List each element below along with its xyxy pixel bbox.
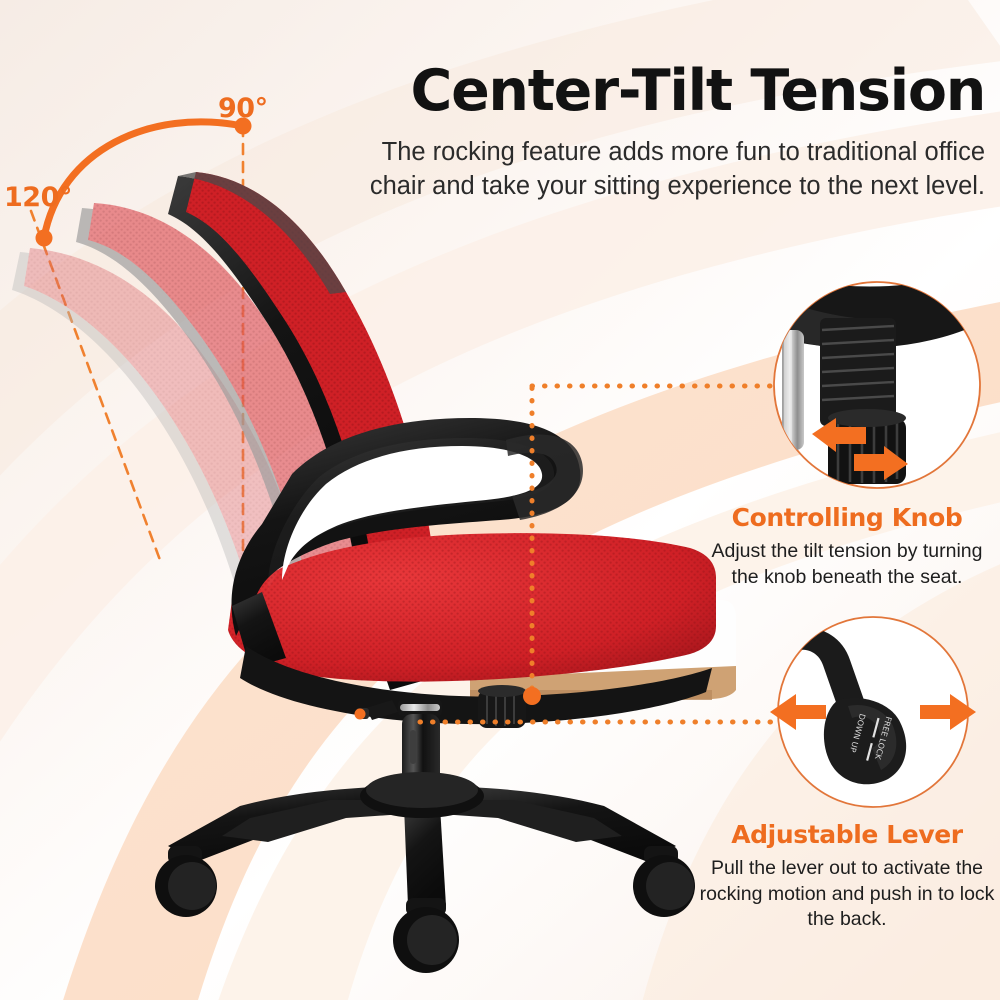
callout-title-lever: Adjustable Lever: [697, 820, 997, 849]
angle-120-ray: [31, 211, 160, 560]
callout-body-lever: Pull the lever out to activate the rocki…: [697, 856, 997, 933]
svg-text:DOWN UP: DOWN UP: [848, 713, 867, 754]
rotation-arrows-icon: [812, 418, 908, 480]
caster-left: [155, 846, 217, 917]
callout-adjustable-lever: Adjustable Lever Pull the lever out to a…: [697, 820, 997, 933]
desk-block: [470, 600, 736, 700]
svg-text:FREE LOCK: FREE LOCK: [873, 715, 893, 761]
backrest-upright: [168, 172, 436, 596]
angle-120-pivot-dot: [36, 230, 53, 247]
page-title: Center-Tilt Tension: [360, 62, 985, 120]
header-block: Center-Tilt Tension The rocking feature …: [360, 62, 985, 204]
angle-label-90: 90°: [218, 93, 268, 124]
connector-anchor-dot: [523, 687, 541, 705]
backrest-ghost-reclined: [12, 248, 300, 588]
armrest: [232, 418, 583, 668]
callout-title-knob: Controlling Knob: [697, 503, 997, 532]
seat-lever: [355, 700, 399, 720]
left-right-arrows-icon: [770, 694, 976, 730]
caster-front: [393, 898, 459, 973]
caster-wheels: [155, 846, 695, 973]
callout-body-knob: Adjust the tilt tension by turning the k…: [697, 539, 997, 590]
callout-controlling-knob: Controlling Knob Adjust the tilt tension…: [697, 503, 997, 590]
caster-right: [633, 846, 695, 917]
angle-label-120: 120°: [4, 182, 72, 213]
backrest-ghost-mid: [76, 203, 360, 588]
seat-cushion: [228, 533, 716, 702]
backrest-spine: [330, 560, 440, 690]
tension-knob: [478, 685, 526, 728]
seat-pan: [240, 646, 712, 724]
infographic-canvas: FREE LOCK DOWN UP Center-Tilt Tension Th…: [0, 0, 1000, 1000]
chair-base: [168, 772, 676, 906]
tilt-arc: [44, 122, 243, 238]
page-subtitle: The rocking feature adds more fun to tra…: [360, 136, 985, 204]
gas-lift-cylinder: [398, 700, 442, 792]
